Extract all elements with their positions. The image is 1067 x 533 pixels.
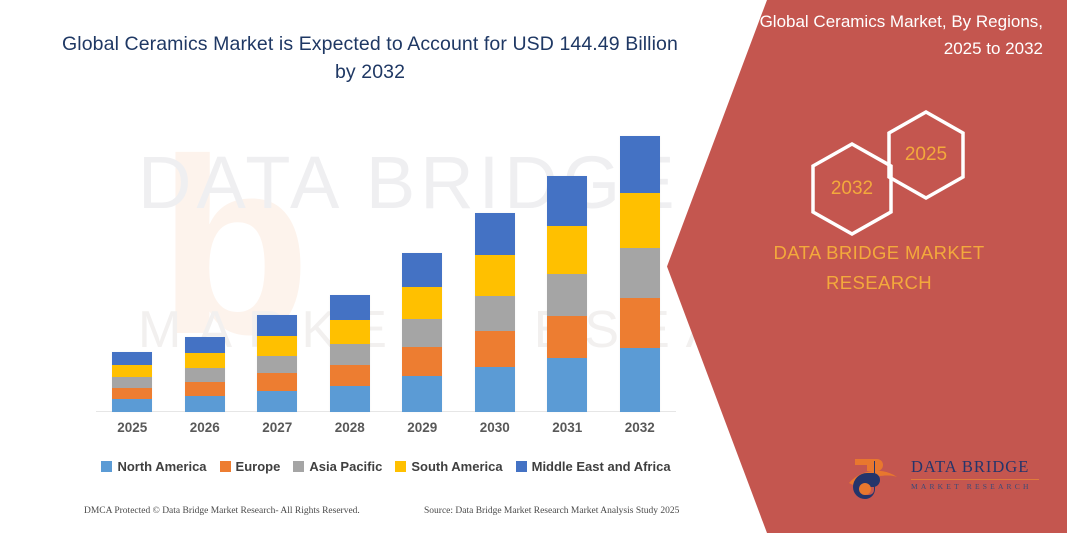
bar-segment[interactable] (620, 136, 660, 193)
footer-copyright: DMCA Protected © Data Bridge Market Rese… (84, 506, 360, 516)
x-axis-label-2032: 2032 (604, 420, 677, 435)
plot-area (96, 120, 676, 412)
bar-segment[interactable] (547, 226, 587, 274)
bar-column-2025 (96, 120, 169, 412)
bar-column-2028 (314, 120, 387, 412)
stacked-bar[interactable] (330, 295, 370, 412)
bar-segment[interactable] (402, 347, 442, 376)
bar-segment[interactable] (330, 344, 370, 365)
logo-wordmark: DATA BRIDGE MARKET RESEARCH (911, 457, 1046, 491)
bar-segment[interactable] (330, 386, 370, 412)
bar-segment[interactable] (475, 296, 515, 331)
bar-segment[interactable] (112, 399, 152, 412)
bar-segment[interactable] (475, 367, 515, 412)
company-logo: DATA BRIDGE MARKET RESEARCH (845, 451, 1045, 507)
bar-segment[interactable] (257, 336, 297, 356)
bar-segment[interactable] (185, 382, 225, 396)
legend-label: North America (117, 459, 206, 474)
x-axis-labels: 20252026202720282029203020312032 (96, 420, 676, 444)
legend-swatch-icon (293, 461, 304, 472)
bar-column-2026 (169, 120, 242, 412)
bar-column-2031 (531, 120, 604, 412)
bar-segment[interactable] (257, 373, 297, 391)
legend-item[interactable]: South America (395, 459, 502, 474)
bar-segment[interactable] (547, 358, 587, 412)
x-axis-label-2025: 2025 (96, 420, 169, 435)
legend-label: Europe (236, 459, 281, 474)
x-axis-label-2029: 2029 (386, 420, 459, 435)
bar-segment[interactable] (475, 331, 515, 367)
x-axis-label-2028: 2028 (314, 420, 387, 435)
hexagon-start-label: 2025 (905, 144, 947, 166)
bar-segment[interactable] (257, 356, 297, 373)
data-bridge-logo-icon (845, 453, 905, 505)
legend-item[interactable]: Europe (220, 459, 281, 474)
bar-segment[interactable] (257, 391, 297, 412)
bar-segment[interactable] (475, 213, 515, 255)
logo-tagline: MARKET RESEARCH (911, 482, 1046, 491)
bar-segment[interactable] (547, 316, 587, 358)
bar-segment[interactable] (330, 365, 370, 386)
bar-segment[interactable] (402, 376, 442, 412)
legend-label: Middle East and Africa (532, 459, 671, 474)
bar-segment[interactable] (112, 377, 152, 388)
chart-panel: Global Ceramics Market is Expected to Ac… (0, 0, 760, 533)
stacked-bar[interactable] (475, 213, 515, 412)
hexagon-end-label: 2032 (831, 178, 873, 200)
logo-divider (911, 479, 1039, 480)
bar-segment[interactable] (185, 368, 225, 382)
bar-segment[interactable] (257, 315, 297, 336)
bar-column-2030 (459, 120, 532, 412)
legend-item[interactable]: Middle East and Africa (516, 459, 671, 474)
bar-segment[interactable] (402, 319, 442, 347)
bar-segment[interactable] (330, 295, 370, 320)
brand-panel-title: Global Ceramics Market, By Regions, 2025… (743, 8, 1043, 62)
bar-segment[interactable] (112, 365, 152, 377)
stacked-bar[interactable] (402, 253, 442, 412)
bar-column-2027 (241, 120, 314, 412)
stacked-bar[interactable] (112, 352, 152, 412)
bar-segment[interactable] (112, 352, 152, 365)
stacked-bar[interactable] (620, 136, 660, 412)
legend-swatch-icon (101, 461, 112, 472)
legend-label: Asia Pacific (309, 459, 382, 474)
x-axis-label-2026: 2026 (169, 420, 242, 435)
footer: DMCA Protected © Data Bridge Market Rese… (84, 506, 684, 524)
hexagon-badge-end: 2032 (805, 140, 899, 238)
legend-item[interactable]: Asia Pacific (293, 459, 382, 474)
legend-swatch-icon (395, 461, 406, 472)
legend-swatch-icon (516, 461, 527, 472)
bar-segment[interactable] (402, 287, 442, 319)
bar-segment[interactable] (475, 255, 515, 296)
logo-name: DATA BRIDGE (911, 457, 1046, 477)
infographic-canvas: Global Ceramics Market is Expected to Ac… (0, 0, 1067, 533)
bar-segment[interactable] (547, 274, 587, 316)
chart-legend: North AmericaEuropeAsia PacificSouth Ame… (96, 455, 676, 477)
bar-segment[interactable] (547, 176, 587, 226)
bar-segment[interactable] (620, 193, 660, 248)
legend-item[interactable]: North America (101, 459, 206, 474)
bar-segment[interactable] (402, 253, 442, 287)
bar-column-2032 (604, 120, 677, 412)
page-title: Global Ceramics Market is Expected to Ac… (60, 30, 680, 86)
footer-source: Source: Data Bridge Market Research Mark… (424, 506, 679, 516)
stacked-bar[interactable] (257, 315, 297, 412)
x-axis-label-2027: 2027 (241, 420, 314, 435)
bar-segment[interactable] (330, 320, 370, 344)
bar-segment[interactable] (112, 388, 152, 399)
bar-segment[interactable] (620, 248, 660, 298)
bar-segment[interactable] (185, 337, 225, 353)
brand-name: DATA BRIDGE MARKET RESEARCH (739, 238, 1019, 298)
stacked-bar[interactable] (547, 176, 587, 412)
bar-column-2029 (386, 120, 459, 412)
stacked-bar[interactable] (185, 337, 225, 412)
x-axis-label-2031: 2031 (531, 420, 604, 435)
bar-segment[interactable] (185, 353, 225, 368)
bar-segment[interactable] (620, 298, 660, 348)
legend-swatch-icon (220, 461, 231, 472)
bar-segment[interactable] (185, 396, 225, 412)
x-axis-label-2030: 2030 (459, 420, 532, 435)
bar-segment[interactable] (620, 348, 660, 412)
legend-label: South America (411, 459, 502, 474)
